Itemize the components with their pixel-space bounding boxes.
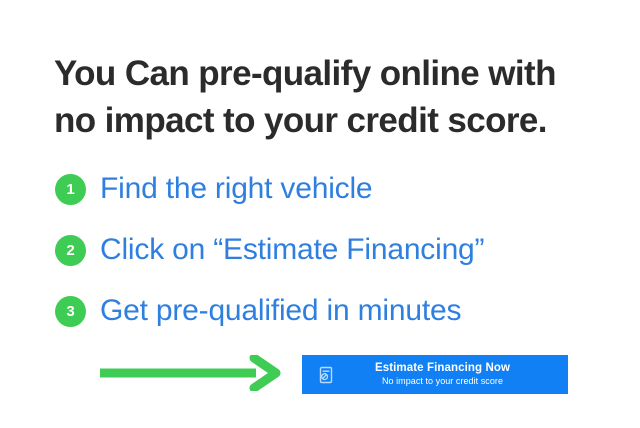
step-label: Get pre-qualified in minutes [100,294,461,328]
page-title: You Can pre-qualify online with no impac… [54,50,594,144]
calculator-document-icon [317,366,335,384]
step-label: Click on “Estimate Financing” [100,233,484,267]
step-number-badge: 3 [55,296,86,327]
cta-label-group: Estimate Financing Now No impact to your… [335,361,568,388]
list-item: 2 Click on “Estimate Financing” [55,227,615,273]
list-item: 1 Find the right vehicle [55,166,615,212]
cta-subtitle: No impact to your credit score [335,375,550,388]
headline-line-2: no impact to your credit score. [54,97,594,144]
list-item: 3 Get pre-qualified in minutes [55,288,615,334]
steps-list: 1 Find the right vehicle 2 Click on “Est… [55,166,615,349]
step-label: Find the right vehicle [100,172,372,206]
cta-title: Estimate Financing Now [335,361,550,375]
step-number-badge: 1 [55,174,86,205]
headline-line-1: You Can pre-qualify online with [54,50,594,97]
prequalify-promo-banner: You Can pre-qualify online with no impac… [0,0,640,428]
estimate-financing-button[interactable]: Estimate Financing Now No impact to your… [302,355,568,394]
step-number-badge: 2 [55,235,86,266]
arrow-right-icon [96,355,286,391]
